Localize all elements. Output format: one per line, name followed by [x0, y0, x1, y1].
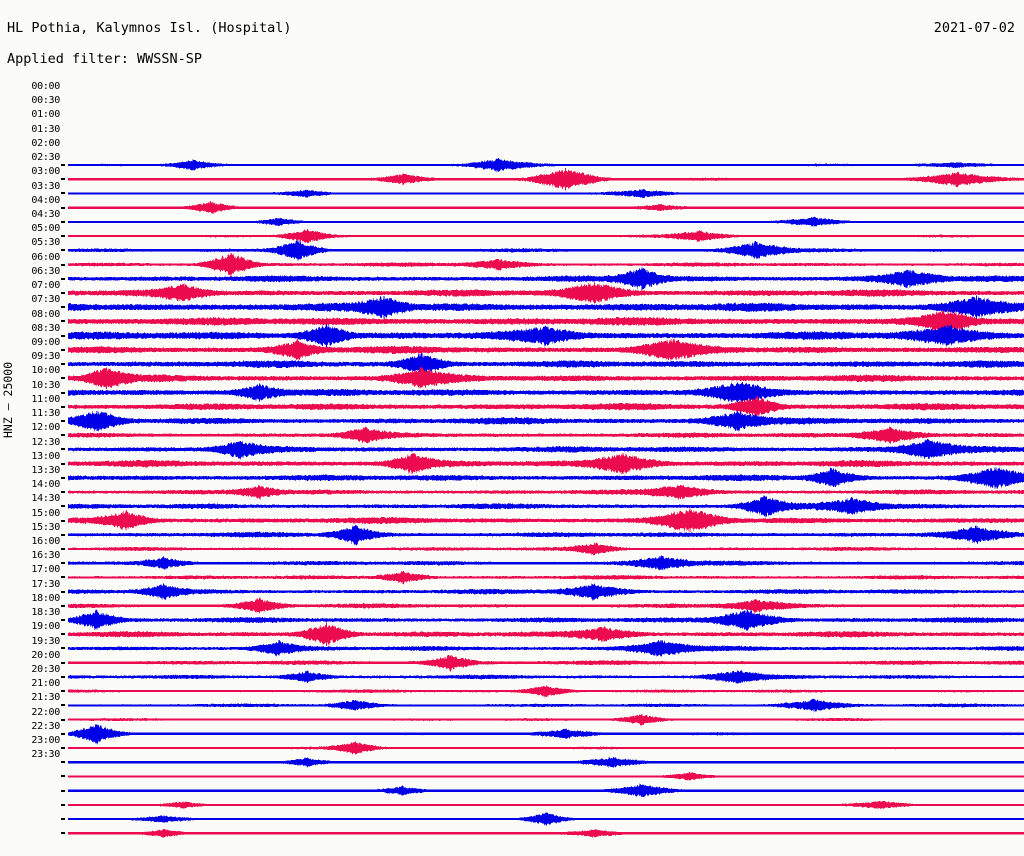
- seismogram-trace: [68, 324, 1024, 348]
- time-axis: 00:0000:3001:0001:3002:0002:3003:0003:30…: [0, 78, 60, 778]
- trace-spike: [412, 454, 413, 474]
- time-label: 12:30: [31, 438, 60, 448]
- trace-baseline: [68, 349, 1024, 351]
- seismogram-trace: [68, 484, 1024, 500]
- trace-baseline: [68, 491, 1024, 493]
- time-label: 22:30: [31, 722, 60, 732]
- trace-spike: [259, 486, 260, 499]
- axis-tick: [61, 349, 65, 351]
- trace-baseline: [68, 391, 1024, 393]
- trace-spike: [364, 428, 365, 442]
- time-label: 05:00: [31, 224, 60, 234]
- trace-spike: [450, 655, 451, 670]
- axis-tick: [61, 335, 65, 337]
- time-label: 21:30: [31, 693, 60, 703]
- time-label: 06:00: [31, 253, 60, 263]
- trace-spike: [403, 571, 404, 584]
- time-label: 15:30: [31, 523, 60, 533]
- seismogram-trace: [68, 282, 1024, 303]
- trace-baseline: [68, 733, 1024, 735]
- trace-spike: [594, 830, 595, 837]
- trace-spike: [259, 599, 260, 613]
- trace-spike: [642, 785, 643, 797]
- axis-tick: [61, 633, 65, 635]
- trace-spike: [355, 700, 356, 711]
- time-label: 12:00: [31, 423, 60, 433]
- time-label: 01:30: [31, 125, 60, 135]
- trace-spike: [890, 427, 891, 444]
- axis-tick: [61, 804, 65, 806]
- trace-baseline: [68, 221, 1024, 223]
- trace-spike: [852, 498, 853, 515]
- trace-baseline: [68, 406, 1024, 408]
- trace-spike: [957, 162, 958, 167]
- seismogram-trace: [68, 623, 1024, 647]
- trace-spike: [164, 816, 165, 823]
- axis-tick: [61, 192, 65, 194]
- seismogram-trace: [68, 699, 1024, 712]
- time-label: 08:30: [31, 324, 60, 334]
- axis-tick: [61, 264, 65, 266]
- time-label: 19:00: [31, 622, 60, 632]
- trace-spike: [594, 543, 595, 555]
- trace-spike: [403, 786, 404, 795]
- time-label: 15:00: [31, 509, 60, 519]
- trace-spike: [661, 556, 662, 570]
- seismogram-trace: [68, 784, 1024, 798]
- trace-spike: [307, 229, 308, 243]
- trace-spike: [661, 640, 662, 657]
- seismogram-trace: [68, 714, 1024, 726]
- time-label: 16:30: [31, 551, 60, 561]
- trace-spike: [642, 189, 643, 197]
- time-label: 18:30: [31, 608, 60, 618]
- seismogram-trace: [68, 757, 1024, 768]
- trace-spike: [613, 757, 614, 768]
- trace-baseline: [68, 576, 1024, 578]
- trace-baseline: [68, 633, 1024, 635]
- trace-spike: [259, 384, 260, 402]
- trace-baseline: [68, 761, 1024, 763]
- trace-spike: [928, 440, 929, 459]
- trace-spike: [307, 758, 308, 767]
- time-label: 10:00: [31, 366, 60, 376]
- trace-baseline: [68, 420, 1024, 422]
- axis-tick: [61, 278, 65, 280]
- time-label: 20:30: [31, 665, 60, 675]
- axis-tick: [61, 591, 65, 593]
- trace-spike: [498, 259, 499, 270]
- trace-spike: [211, 202, 212, 214]
- axis-tick: [61, 235, 65, 237]
- trace-baseline: [68, 534, 1024, 536]
- trace-spike: [995, 467, 996, 488]
- axis-tick: [61, 377, 65, 379]
- axis-tick: [61, 207, 65, 209]
- trace-spike: [106, 368, 107, 389]
- axis-tick: [61, 775, 65, 777]
- trace-spike: [97, 724, 98, 743]
- time-label: 19:30: [31, 637, 60, 647]
- time-label: 11:00: [31, 395, 60, 405]
- seismogram-trace: [68, 295, 1024, 319]
- trace-baseline: [68, 619, 1024, 621]
- seismogram-trace: [68, 829, 1024, 838]
- time-label: 06:30: [31, 267, 60, 277]
- seismogram-trace: [68, 772, 1024, 781]
- time-label: 21:00: [31, 679, 60, 689]
- trace-baseline: [68, 434, 1024, 436]
- trace-spike: [307, 190, 308, 197]
- axis-tick: [61, 605, 65, 607]
- trace-baseline: [68, 164, 1024, 166]
- trace-baseline: [68, 662, 1024, 664]
- trace-spike: [326, 324, 327, 348]
- seismogram-trace: [68, 396, 1024, 417]
- trace-spike: [737, 671, 738, 684]
- trace-baseline: [68, 249, 1024, 251]
- seismogram-trace: [68, 268, 1024, 290]
- time-label: 09:30: [31, 352, 60, 362]
- seismogram-trace: [68, 201, 1024, 214]
- axis-tick: [61, 719, 65, 721]
- trace-spike: [164, 829, 165, 837]
- seismogram-trace: [68, 410, 1024, 432]
- trace-baseline: [68, 548, 1024, 550]
- trace-baseline: [68, 463, 1024, 465]
- axis-tick: [61, 434, 65, 436]
- axis-tick: [61, 647, 65, 649]
- axis-tick: [61, 662, 65, 664]
- trace-baseline: [68, 263, 1024, 265]
- axis-tick: [61, 832, 65, 834]
- time-label: 13:30: [31, 466, 60, 476]
- axis-tick: [61, 392, 65, 394]
- trace-spike: [737, 383, 738, 403]
- trace-baseline: [68, 377, 1024, 379]
- trace-spike: [546, 685, 547, 697]
- trace-spike: [814, 217, 815, 226]
- trace-spike: [699, 231, 700, 242]
- time-label: 13:00: [31, 452, 60, 462]
- seismogram-plot: [0, 78, 1024, 778]
- trace-spike: [680, 485, 681, 499]
- trace-spike: [814, 700, 815, 712]
- trace-spike: [976, 528, 977, 542]
- trace-spike: [756, 242, 757, 259]
- trace-spike: [498, 159, 499, 171]
- seismogram-trace: [68, 353, 1024, 375]
- trace-baseline: [68, 647, 1024, 649]
- seismogram-trace: [68, 670, 1024, 684]
- trace-spike: [603, 627, 604, 641]
- seismogram-trace: [68, 453, 1024, 475]
- trace-baseline: [68, 519, 1024, 521]
- time-label: 16:00: [31, 537, 60, 547]
- time-label: 14:00: [31, 480, 60, 490]
- trace-baseline: [68, 306, 1024, 308]
- trace-spike: [355, 742, 356, 755]
- seismogram-trace: [68, 801, 1024, 810]
- trace-spike: [766, 496, 767, 516]
- axis-tick: [61, 463, 65, 465]
- time-label: 23:30: [31, 750, 60, 760]
- seismogram-trace: [68, 639, 1024, 657]
- seismogram-trace: [68, 655, 1024, 672]
- seismogram-trace: [68, 158, 1024, 173]
- seismogram-trace: [68, 467, 1024, 489]
- axis-tick: [61, 520, 65, 522]
- trace-spike: [594, 282, 595, 303]
- seismogram-trace: [68, 724, 1024, 745]
- trace-spike: [661, 204, 662, 211]
- trace-spike: [689, 509, 690, 533]
- time-label: 17:00: [31, 565, 60, 575]
- axis-tick: [61, 818, 65, 820]
- time-label: 04:00: [31, 196, 60, 206]
- trace-spike: [546, 813, 547, 826]
- trace-spike: [948, 326, 949, 345]
- time-label: 00:00: [31, 82, 60, 92]
- trace-baseline: [68, 775, 1024, 777]
- trace-spike: [97, 411, 98, 431]
- axis-tick: [61, 320, 65, 322]
- axis-tick: [61, 306, 65, 308]
- trace-spike: [125, 511, 126, 530]
- axis-tick: [61, 420, 65, 422]
- trace-spike: [240, 441, 241, 458]
- axis-tick: [61, 548, 65, 550]
- trace-spike: [326, 623, 327, 647]
- time-label: 10:30: [31, 381, 60, 391]
- axis-tick: [61, 747, 65, 749]
- time-label: 00:30: [31, 96, 60, 106]
- axis-tick: [61, 448, 65, 450]
- trace-spike: [297, 341, 298, 360]
- trace-baseline: [68, 704, 1024, 706]
- axis-tick: [61, 761, 65, 763]
- trace-spike: [670, 339, 671, 360]
- time-label: 03:30: [31, 182, 60, 192]
- seismogram-trace: [68, 685, 1024, 697]
- trace-spike: [183, 801, 184, 808]
- seismogram-trace: [68, 495, 1024, 517]
- trace-spike: [164, 557, 165, 569]
- axis-tick: [61, 477, 65, 479]
- trace-baseline: [68, 192, 1024, 194]
- seismogram-trace: [68, 168, 1024, 190]
- axis-tick: [61, 491, 65, 493]
- seismogram-trace: [68, 509, 1024, 533]
- record-date: 2021-07-02: [934, 20, 1015, 36]
- trace-baseline: [68, 505, 1024, 507]
- seismogram-trace: [68, 555, 1024, 571]
- trace-baseline: [68, 832, 1024, 834]
- axis-tick: [61, 164, 65, 166]
- seismogram-trace: [68, 583, 1024, 601]
- trace-spike: [976, 295, 977, 319]
- trace-spike: [594, 584, 595, 599]
- page-title: HL Pothia, Kalymnos Isl. (Hospital): [7, 20, 291, 36]
- trace-spike: [623, 453, 624, 474]
- time-label: 18:00: [31, 594, 60, 604]
- time-label: 03:00: [31, 167, 60, 177]
- seismogram-trace: [68, 524, 1024, 546]
- axis-tick: [61, 505, 65, 507]
- trace-spike: [278, 641, 279, 655]
- trace-spike: [833, 468, 834, 487]
- seismogram-trace: [68, 229, 1024, 243]
- trace-baseline: [68, 278, 1024, 280]
- trace-baseline: [68, 562, 1024, 564]
- seismogram-trace: [68, 609, 1024, 631]
- trace-spike: [756, 396, 757, 417]
- trace-spike: [565, 168, 566, 190]
- trace-spike: [403, 175, 404, 184]
- seismogram-trace: [68, 426, 1024, 444]
- trace-baseline: [68, 790, 1024, 792]
- filter-label: Applied filter: WWSSN-SP: [7, 51, 202, 67]
- trace-spike: [642, 714, 643, 725]
- axis-tick: [61, 249, 65, 251]
- time-label: 02:30: [31, 153, 60, 163]
- axis-tick: [61, 704, 65, 706]
- time-label: 20:00: [31, 651, 60, 661]
- axis-tick: [61, 406, 65, 408]
- time-label: 14:30: [31, 494, 60, 504]
- trace-baseline: [68, 477, 1024, 479]
- trace-baseline: [68, 591, 1024, 593]
- trace-spike: [565, 729, 566, 738]
- trace-spike: [355, 525, 356, 544]
- trace-baseline: [68, 363, 1024, 365]
- seismogram-trace: [68, 439, 1024, 460]
- seismogram-trace: [68, 240, 1024, 260]
- time-label: 11:30: [31, 409, 60, 419]
- time-label: 22:00: [31, 708, 60, 718]
- seismogram-trace: [68, 598, 1024, 614]
- trace-spike: [737, 412, 738, 431]
- time-label: 04:30: [31, 210, 60, 220]
- axis-tick: [61, 363, 65, 365]
- seismogram-trace: [68, 742, 1024, 755]
- axis-tick: [61, 534, 65, 536]
- time-label: 02:00: [31, 139, 60, 149]
- axis-tick: [61, 292, 65, 294]
- axis-tick: [61, 178, 65, 180]
- seismogram-trace: [68, 542, 1024, 556]
- trace-baseline: [68, 676, 1024, 678]
- trace-spike: [881, 801, 882, 809]
- trace-spike: [278, 218, 279, 226]
- time-label: 07:30: [31, 295, 60, 305]
- axis-tick: [61, 790, 65, 792]
- time-label: 01:00: [31, 110, 60, 120]
- trace-spike: [164, 585, 165, 599]
- trace-spike: [689, 772, 690, 780]
- trace-baseline: [68, 178, 1024, 180]
- seismogram-trace: [68, 571, 1024, 585]
- trace-spike: [422, 369, 423, 388]
- seismogram-trace: [68, 382, 1024, 404]
- trace-spike: [642, 268, 643, 290]
- axis-tick: [61, 562, 65, 564]
- trace-baseline: [68, 292, 1024, 294]
- trace-spike: [756, 600, 757, 612]
- time-label: 17:30: [31, 580, 60, 590]
- trace-spike: [957, 172, 958, 186]
- trace-baseline: [68, 718, 1024, 720]
- seismogram-trace: [68, 217, 1024, 227]
- trace-spike: [192, 160, 193, 171]
- trace-spike: [97, 611, 98, 630]
- trace-container: [0, 156, 1024, 856]
- time-label: 07:00: [31, 281, 60, 291]
- time-label: 09:00: [31, 338, 60, 348]
- axis-tick: [61, 619, 65, 621]
- time-label: 23:00: [31, 736, 60, 746]
- time-label: 05:30: [31, 238, 60, 248]
- seismogram-trace: [68, 367, 1024, 389]
- trace-baseline: [68, 448, 1024, 450]
- trace-spike: [546, 327, 547, 344]
- trace-baseline: [68, 320, 1024, 322]
- trace-baseline: [68, 747, 1024, 749]
- trace-spike: [183, 285, 184, 302]
- trace-baseline: [68, 605, 1024, 607]
- trace-spike: [909, 270, 910, 288]
- seismogram-trace: [68, 812, 1024, 825]
- time-label: 08:00: [31, 310, 60, 320]
- axis-tick: [61, 733, 65, 735]
- trace-spike: [747, 610, 748, 631]
- trace-spike: [307, 671, 308, 683]
- axis-tick: [61, 676, 65, 678]
- trace-spike: [297, 240, 298, 260]
- axis-tick: [61, 221, 65, 223]
- seismogram-trace: [68, 189, 1024, 198]
- seismogram-trace: [68, 253, 1024, 276]
- trace-baseline: [68, 235, 1024, 237]
- trace-spike: [231, 253, 232, 276]
- axis-tick: [61, 690, 65, 692]
- trace-spike: [384, 296, 385, 318]
- axis-tick: [61, 576, 65, 578]
